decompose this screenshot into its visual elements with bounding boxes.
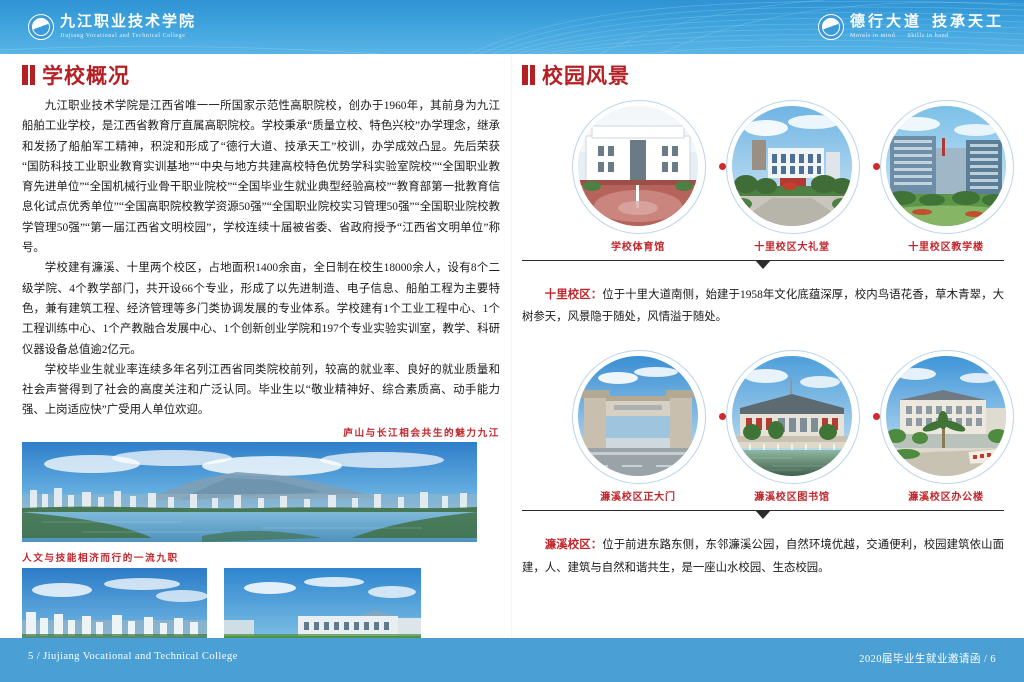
- heading-marker-icon: [22, 65, 35, 85]
- teaching-building-circle[interactable]: [886, 106, 1006, 226]
- main-gate-photo: [578, 356, 698, 476]
- college-name-cn: 九江职业技术学院: [60, 15, 196, 30]
- connector-dot-icon: [873, 163, 880, 170]
- college-seal-icon: [818, 14, 844, 40]
- caption-library: 濂溪校区图书馆: [722, 488, 862, 503]
- library-circle[interactable]: [732, 356, 852, 476]
- left-logo-text: 九江职业技术学院 Jiujiang Vocational and Technic…: [60, 15, 196, 39]
- caption-row-shili: 学校体育馆 十里校区大礼堂 十里校区教学楼: [522, 238, 1004, 256]
- library-photo: [732, 356, 852, 476]
- motto-en-1: Morals in mind: [850, 33, 895, 39]
- motto-cn-row: 德行大道 技承天工: [850, 15, 1004, 30]
- auditorium-circle[interactable]: [732, 106, 852, 226]
- page-header: 九江职业技术学院 Jiujiang Vocational and Technic…: [0, 0, 1024, 54]
- caption-main-gate: 濂溪校区正大门: [568, 488, 708, 503]
- circle-row-shili: [522, 96, 1004, 236]
- right-column: 校园风景: [522, 60, 1004, 579]
- circle-row-lianxi: [522, 346, 1004, 486]
- caption-gymnasium: 学校体育馆: [568, 238, 708, 253]
- page-footer: 5 / Jiujiang Vocational and Technical Co…: [0, 638, 1024, 682]
- description-lead-shili: 十里校区：: [545, 289, 602, 301]
- brochure-page: 九江职业技术学院 Jiujiang Vocational and Technic…: [0, 0, 1024, 682]
- connector-dot-icon: [719, 163, 726, 170]
- office-building-photo: [886, 356, 1006, 476]
- motto-en-2: Skills in hand: [907, 33, 948, 39]
- college-name-en: Jiujiang Vocational and Technical Colleg…: [60, 33, 196, 39]
- motto-en-row: Morals in mind Skills in hand: [850, 30, 1004, 39]
- panorama-illustration: [22, 442, 477, 542]
- section-title-text: 校园风景: [542, 60, 630, 90]
- motto-cn-1: 德行大道: [850, 15, 922, 30]
- college-seal-icon: [28, 14, 54, 40]
- caption-duo: 人文与技能相济而行的一流九职: [22, 550, 500, 564]
- left-logo: 九江职业技术学院 Jiujiang Vocational and Technic…: [28, 14, 196, 40]
- caption-teaching-building: 十里校区教学楼: [876, 238, 1016, 253]
- gymnasium-illustration: [578, 106, 698, 226]
- gymnasium-circle[interactable]: [578, 106, 698, 226]
- divider-lianxi: [522, 510, 1004, 524]
- scenery-group-lianxi: 濂溪校区正大门 濂溪校区图书馆 濂溪校区办公楼 濂溪校区：位于前进东路东侧，东邻…: [522, 346, 1004, 578]
- page-gutter: [511, 54, 512, 638]
- main-gate-circle[interactable]: [578, 356, 698, 476]
- divider-triangle-icon: [755, 510, 771, 519]
- section-title-text: 学校概况: [42, 60, 130, 90]
- auditorium-illustration: [732, 106, 852, 226]
- library-illustration: [732, 356, 852, 476]
- teaching-building-photo: [886, 106, 1006, 226]
- description-shili: 十里校区：位于十里大道南侧，始建于1958年文化底蕴深厚，校内鸟语花香，草木青翠…: [522, 284, 1004, 328]
- jiujiang-city-panorama-photo: [22, 442, 477, 542]
- caption-office-building: 濂溪校区办公楼: [876, 488, 1016, 503]
- motto-cn-2: 技承天工: [932, 15, 1004, 30]
- section-heading-campus-scenery: 校园风景: [522, 60, 1004, 90]
- section-heading-school-overview: 学校概况: [22, 60, 500, 90]
- left-column: 学校概况 九江职业技术学院是江西省唯一一所国家示范性高职院校，创办于1960年，…: [22, 60, 500, 682]
- overview-paragraph-3: 学校毕业生就业率连续多年名列江西省同类院校前列，较高的就业率、良好的就业质量和社…: [22, 360, 500, 421]
- caption-auditorium: 十里校区大礼堂: [722, 238, 862, 253]
- auditorium-photo: [732, 106, 852, 226]
- divider-triangle-icon: [755, 260, 771, 269]
- connector-dot-icon: [719, 413, 726, 420]
- description-lianxi: 濂溪校区：位于前进东路东侧，东邻濂溪公园，自然环境优越，交通便利，校园建筑依山面…: [522, 534, 1004, 578]
- footer-left-text: 5 / Jiujiang Vocational and Technical Co…: [28, 651, 238, 662]
- divider-shili: [522, 260, 1004, 274]
- overview-paragraph-2: 学校建有濂溪、十里两个校区，占地面积1400余亩，全日制在校生18000余人，设…: [22, 258, 500, 359]
- footer-right-text: 2020届毕业生就业邀请函 / 6: [859, 651, 996, 666]
- office-building-circle[interactable]: [886, 356, 1006, 476]
- overview-paragraph-1: 九江职业技术学院是江西省唯一一所国家示范性高职院校，创办于1960年，其前身为九…: [22, 96, 500, 258]
- caption-panorama: 庐山与长江相会共生的魅力九江: [22, 425, 500, 439]
- teaching-building-illustration: [886, 106, 1006, 226]
- motto-text: 德行大道 技承天工 Morals in mind Skills in hand: [850, 15, 1004, 39]
- caption-row-lianxi: 濂溪校区正大门 濂溪校区图书馆 濂溪校区办公楼: [522, 488, 1004, 506]
- heading-marker-icon: [522, 65, 535, 85]
- gymnasium-photo: [578, 106, 698, 226]
- scenery-group-shili: 学校体育馆 十里校区大礼堂 十里校区教学楼 十里校区：位于十里大道南侧，始建于1…: [522, 96, 1004, 328]
- right-logo: 德行大道 技承天工 Morals in mind Skills in hand: [818, 14, 1004, 40]
- description-lead-lianxi: 濂溪校区：: [545, 539, 602, 551]
- office-building-illustration: [886, 356, 1006, 476]
- connector-dot-icon: [873, 413, 880, 420]
- main-gate-illustration: [578, 356, 698, 476]
